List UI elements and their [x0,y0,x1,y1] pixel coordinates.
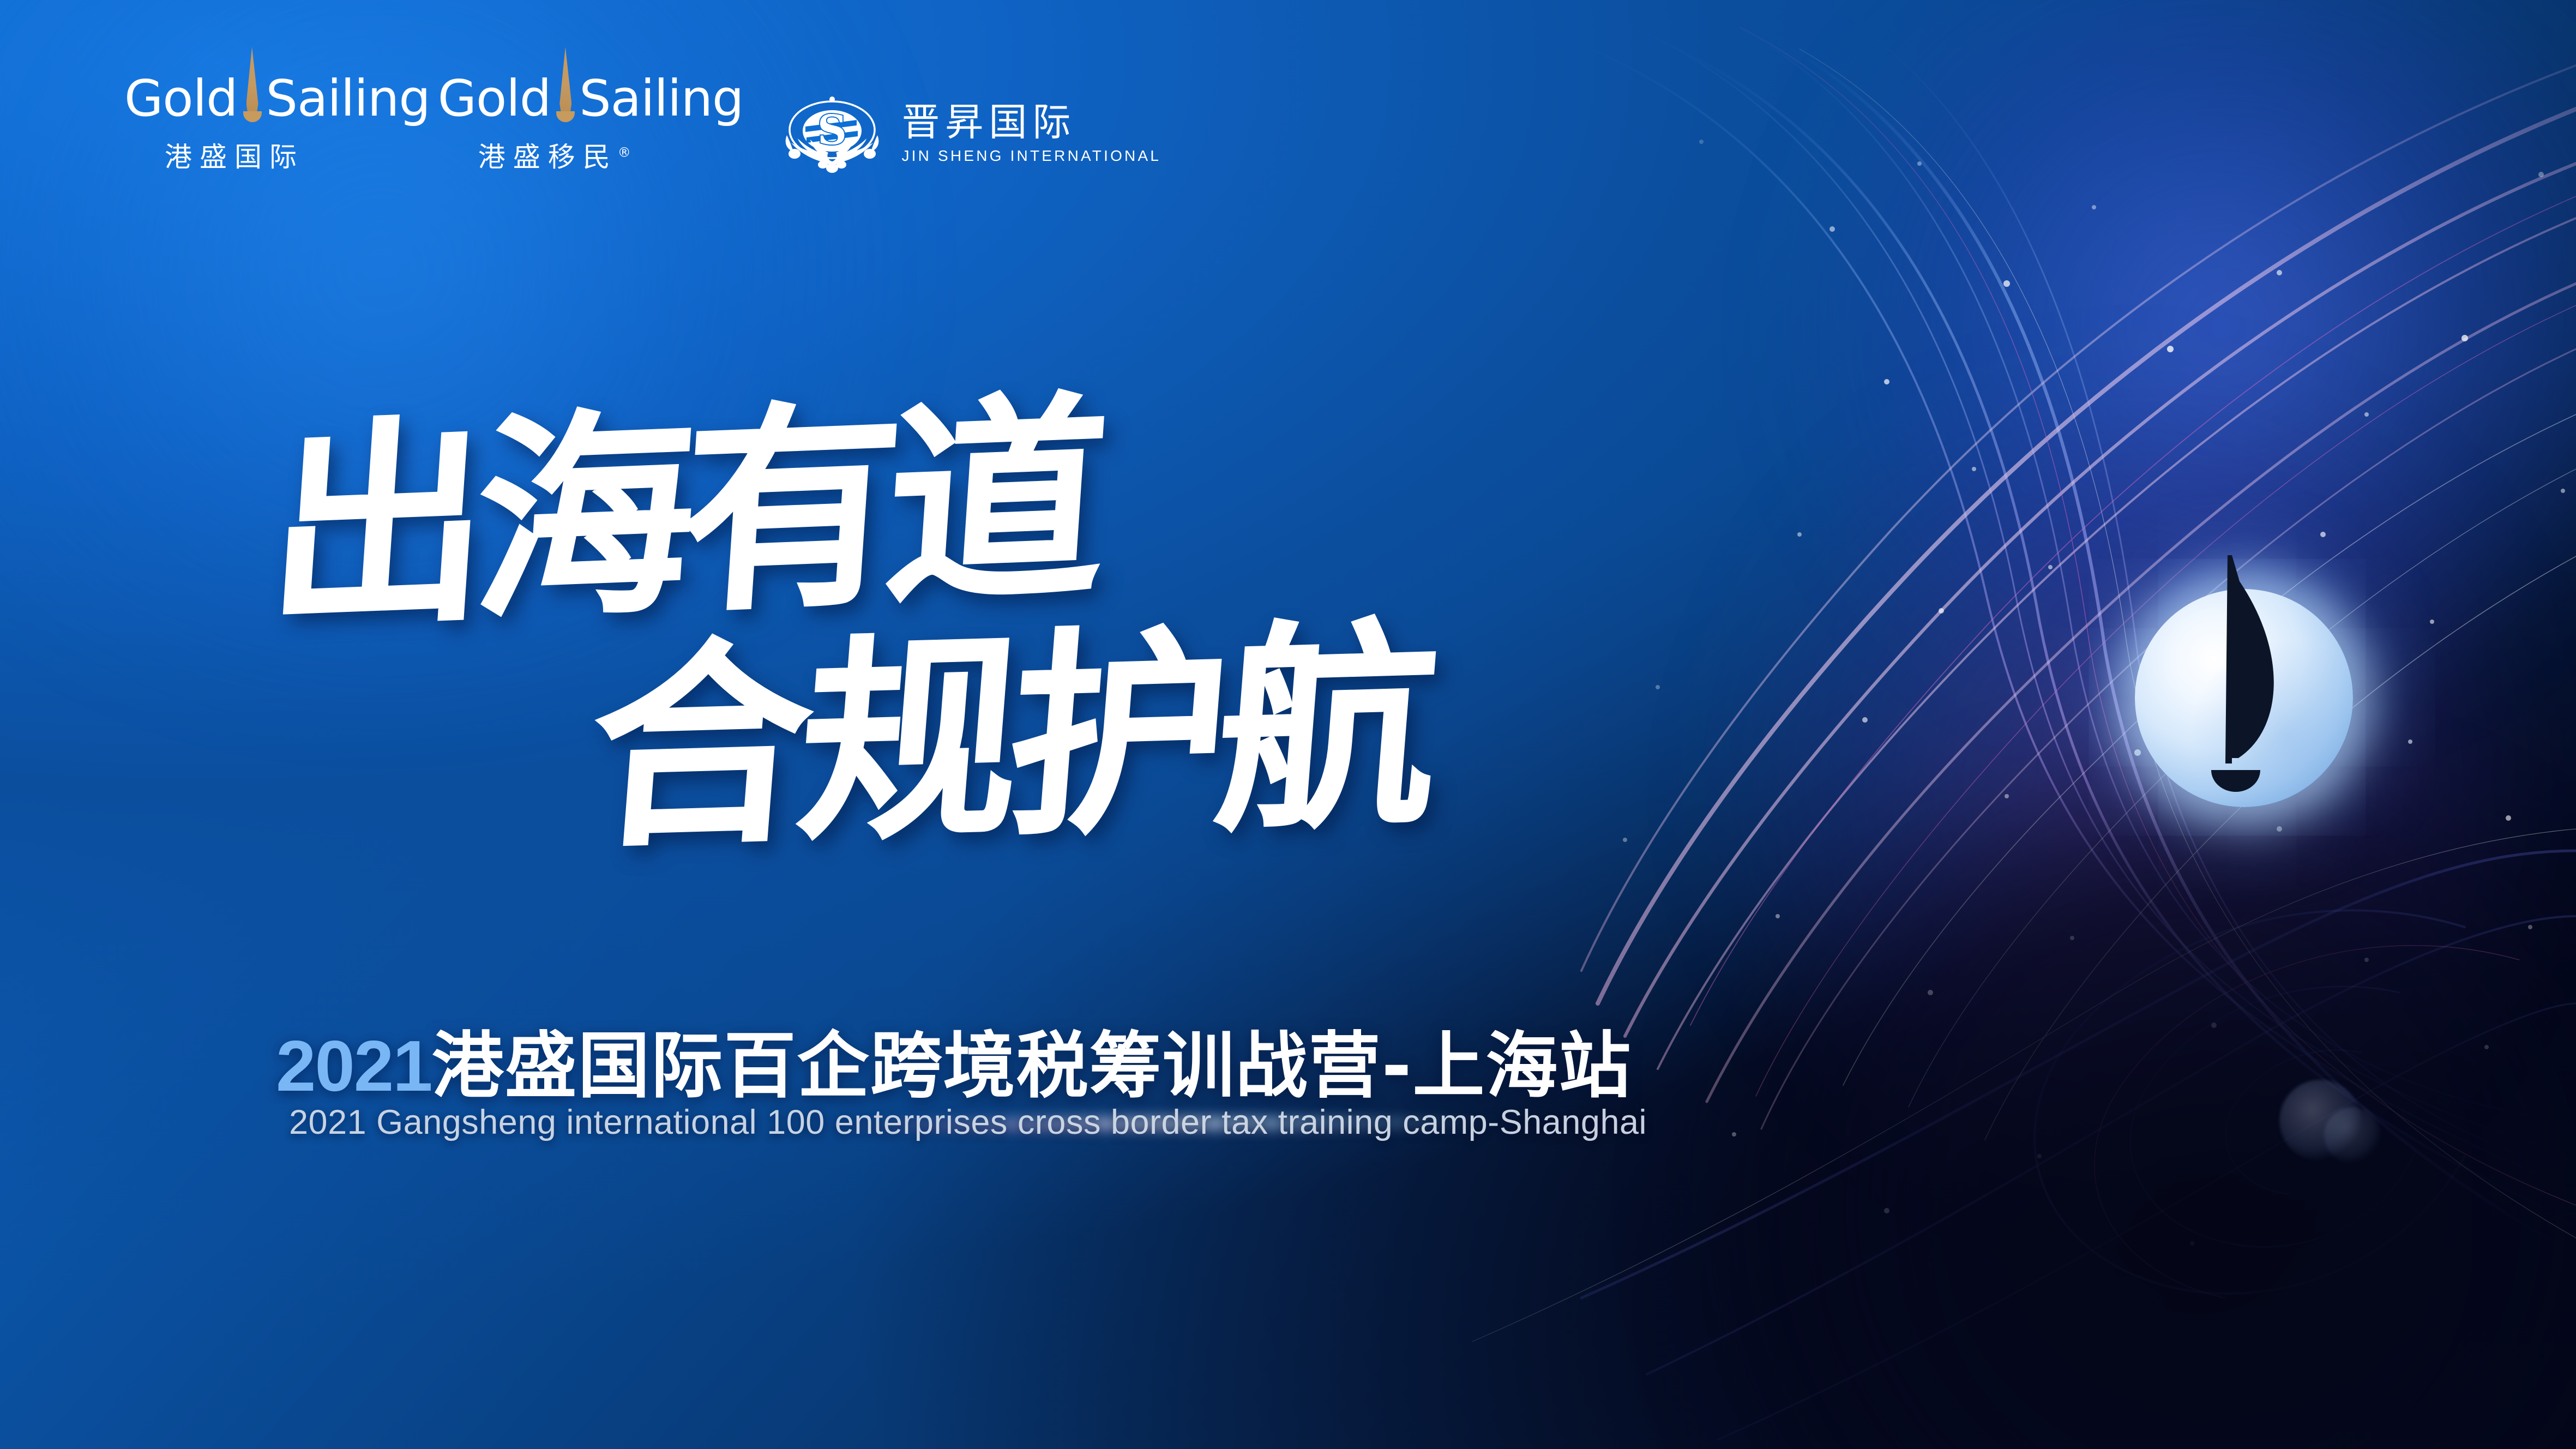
event-poster: Gold Sailing 港盛国际 Gold Sailing 港盛移民® [0,0,2576,1449]
logo-chinese-name: 港盛国际 [124,135,430,175]
sailboat-silhouette [2102,545,2408,851]
jin-sheng-english-name: JIN SHENG INTERNATIONAL [901,147,1161,165]
gold-sailing-wordmark: Gold Sailing [438,65,744,132]
lens-bokeh-circle [2324,1107,2381,1164]
subtitle-year: 2021 [276,1026,432,1106]
jin-sheng-text-block: 晋昇国际 JIN SHENG INTERNATIONAL [901,103,1161,165]
logo-chinese-name: 港盛移民® [438,135,744,175]
moon-sailboat-graphic [2102,545,2408,851]
headline-block: 出海有道 合规护航 [0,327,1745,927]
logo-gold-sailing-immigration: Gold Sailing 港盛移民® [438,65,751,175]
gold-sailing-wordmark: Gold Sailing [124,65,430,132]
subtitle-english: 2021 Gangsheng international 100 enterpr… [289,1103,1647,1142]
headline-line-2: 合规护航 [581,550,1441,889]
registered-mark-icon: ® [618,145,631,160]
logo-bar: Gold Sailing 港盛国际 Gold Sailing 港盛移民® [124,65,1161,175]
sail-icon [239,65,264,132]
logo-sailing-text: Sailing [579,74,743,124]
lens-bokeh-circle [2279,1080,2361,1162]
subtitle-chinese-rest: 港盛国际百企跨境税筹训战营-上海站 [432,1024,1632,1108]
sail-icon [552,65,577,132]
jin-sheng-chinese-name: 晋昇国际 [901,103,1161,143]
background-vignette-dark [1682,773,2576,1449]
logo-gold-text: Gold [124,74,238,124]
logo-jin-sheng-international: S S 晋昇国际 JIN SHENG INTERNATIO [775,93,1161,175]
subtitle-chinese: 2021港盛国际百企跨境税筹训战营-上海站 [276,1008,1632,1112]
svg-text:S: S [818,107,847,154]
logo-gold-sailing-international: Gold Sailing 港盛国际 [124,65,438,175]
logo-sailing-text: Sailing [266,74,430,124]
wreath-emblem-icon: S S [775,93,889,175]
logo-gold-text: Gold [438,74,551,124]
logo-chinese-text: 港盛移民 [478,141,618,173]
